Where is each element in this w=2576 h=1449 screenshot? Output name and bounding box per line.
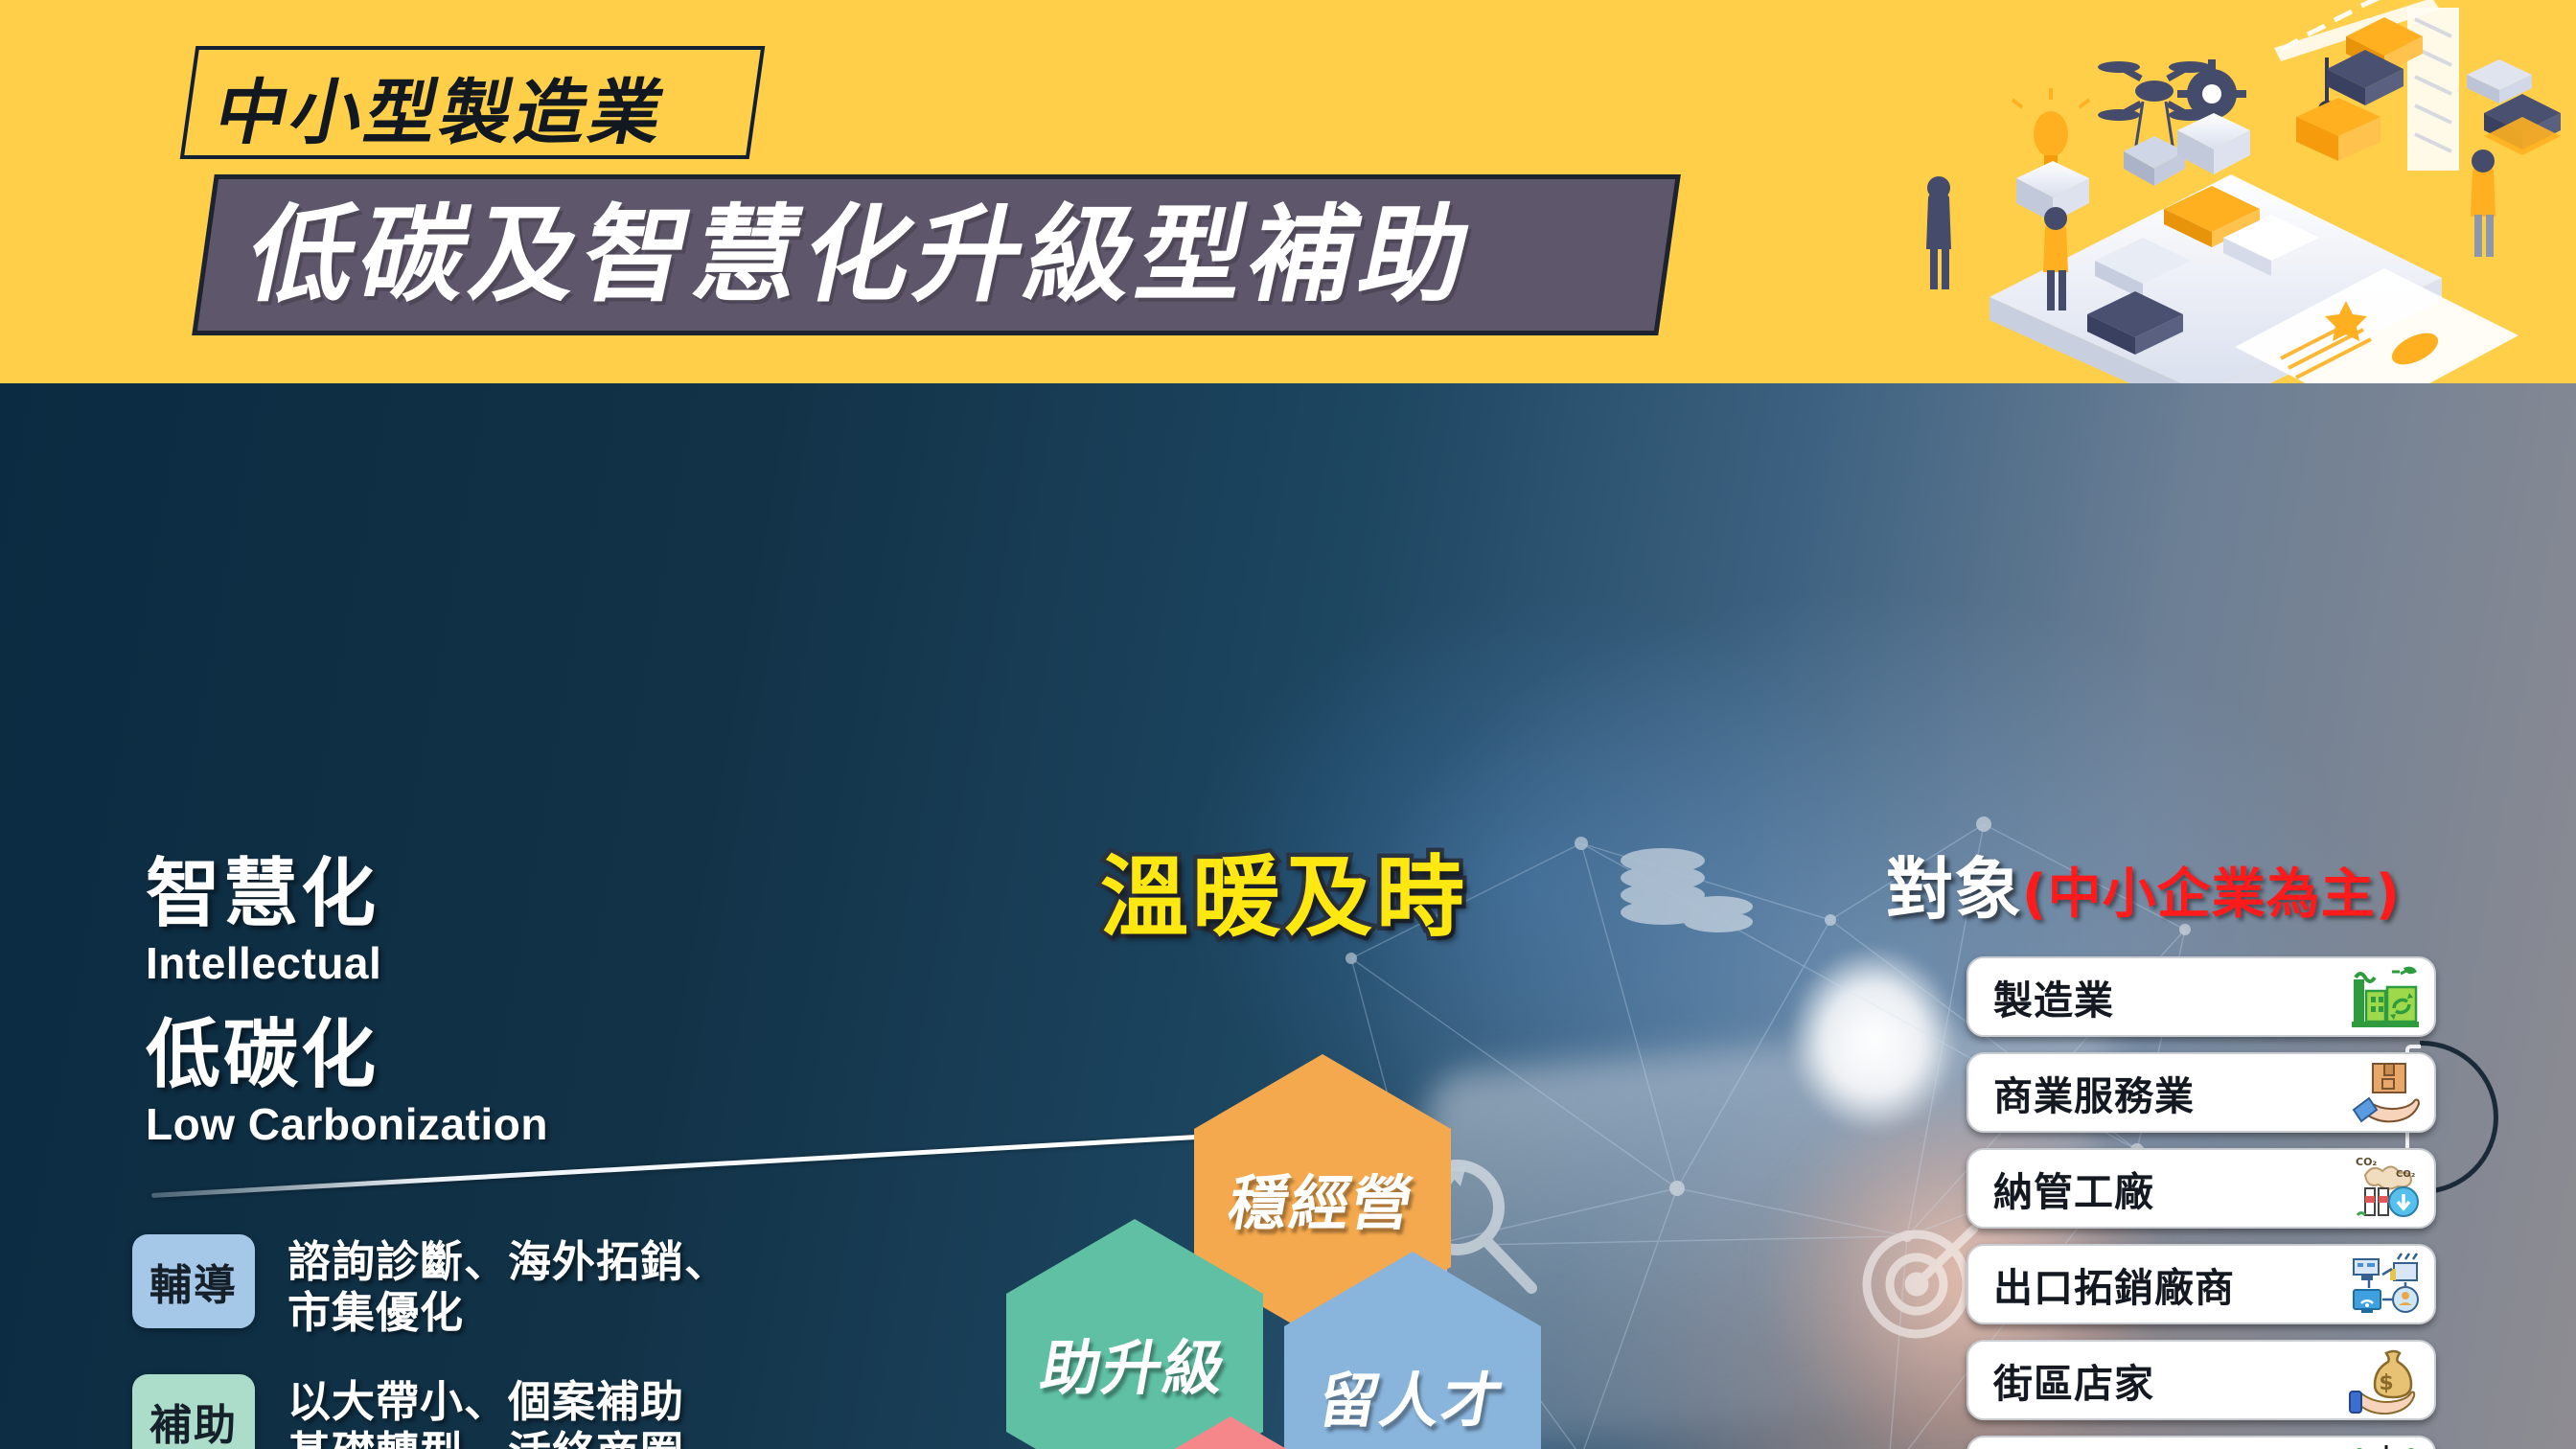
measure-row: 補助 以大帶小、個案補助 基礎轉型、活絡商圈 街區店家 [132,1374,899,1449]
measure-row-text: 以大帶小、個案補助 基礎轉型、活絡商圈 街區店家 [287,1374,684,1449]
top-banner: 中小型製造業 低碳及智慧化升級型補助 [0,0,2576,383]
target-bullseye-icon [1867,1229,1974,1334]
target-heading-main: 對象 [1886,850,2022,929]
left-headings: 智慧化 Intellectual 低碳化 Low Carbonization [146,834,548,1150]
hex-label: 穩經營 [1223,1155,1422,1241]
measure-line: 基礎轉型、活絡商圈 [287,1427,684,1449]
heading-lowcarbon-cn: 低碳化 [146,995,548,1102]
list-item-label: 出口拓銷廠商 [1968,1255,2235,1313]
list-item[interactable]: 商圈組織 [1966,1436,2436,1449]
list-item[interactable]: 商業服務業 [1966,1052,2436,1133]
list-item[interactable]: 街區店家 $ [1966,1340,2436,1420]
page-title: 低碳及智慧化升級型補助 [237,188,1703,322]
network-export-trade-icon [2348,1250,2423,1319]
target-list: 製造業 商業服務業 [1966,956,2436,1449]
main-stage: 智慧化 Intellectual 低碳化 Low Carbonization 輔… [0,383,2576,1449]
list-item-label: 街區店家 [1968,1351,2154,1409]
kicker-label: 中小型製造業 [208,56,678,158]
heading-intellectual-en: Intellectual [146,937,548,989]
hex-label: 留人才 [1313,1352,1512,1438]
hand-holding-money-bag-icon: $ [2348,1345,2423,1414]
list-item-label: 商業服務業 [1968,1064,2195,1121]
badge-label: 輔導 [149,1251,238,1312]
list-item[interactable]: 納管工廠 CO₂ CO₂ [1966,1148,2436,1229]
gear-people-group-icon [2348,1441,2423,1449]
list-item-label: 納管工廠 [1968,1160,2154,1217]
list-item[interactable]: 製造業 [1966,956,2436,1037]
hexagon-cluster: 穩經營 助升級 留人才 注資金 [882,1054,1629,1449]
heading-lowcarbon-en: Low Carbonization [146,1098,548,1150]
co2-smokestack-reduce-icon: CO₂ CO₂ [2348,1154,2423,1223]
svg-text:CO₂: CO₂ [2396,1169,2415,1180]
target-heading-sub: (中小企業為主) [2022,863,2401,926]
badge-label: 補助 [149,1391,238,1449]
measure-line: 市集優化 [287,1287,728,1338]
target-heading: 對象(中小企業為主) [1886,836,2401,932]
badge-subsidy: 補助 [132,1374,255,1449]
measure-row-text: 諮詢診斷、海外拓銷、 市集優化 [287,1234,728,1338]
measure-line: 諮詢診斷、海外拓銷、 [287,1236,728,1287]
measure-rows: 輔導 諮詢診斷、海外拓銷、 市集優化 補助 以大帶小、個案補助 基礎轉型、活絡商… [132,1234,899,1449]
measure-row: 輔導 諮詢診斷、海外拓銷、 市集優化 [132,1234,899,1338]
measure-line: 以大帶小、個案補助 [287,1376,684,1427]
center-slogan: 溫暖及時 [1100,826,1468,954]
hand-holding-box-icon [2348,1058,2423,1127]
poster-root: 中小型製造業 低碳及智慧化升級型補助 [0,0,2576,1449]
hex-label: 助升級 [1035,1320,1234,1406]
isometric-illustration [1848,0,2576,383]
list-item[interactable]: 出口拓銷廠商 [1966,1244,2436,1324]
green-factory-recycle-icon [2348,962,2423,1031]
list-item-label: 製造業 [1968,968,2114,1025]
heading-intellectual-cn: 智慧化 [146,834,548,941]
badge-counseling: 輔導 [132,1234,255,1328]
svg-text:CO₂: CO₂ [2356,1156,2377,1168]
svg-text:$: $ [2379,1371,2393,1395]
